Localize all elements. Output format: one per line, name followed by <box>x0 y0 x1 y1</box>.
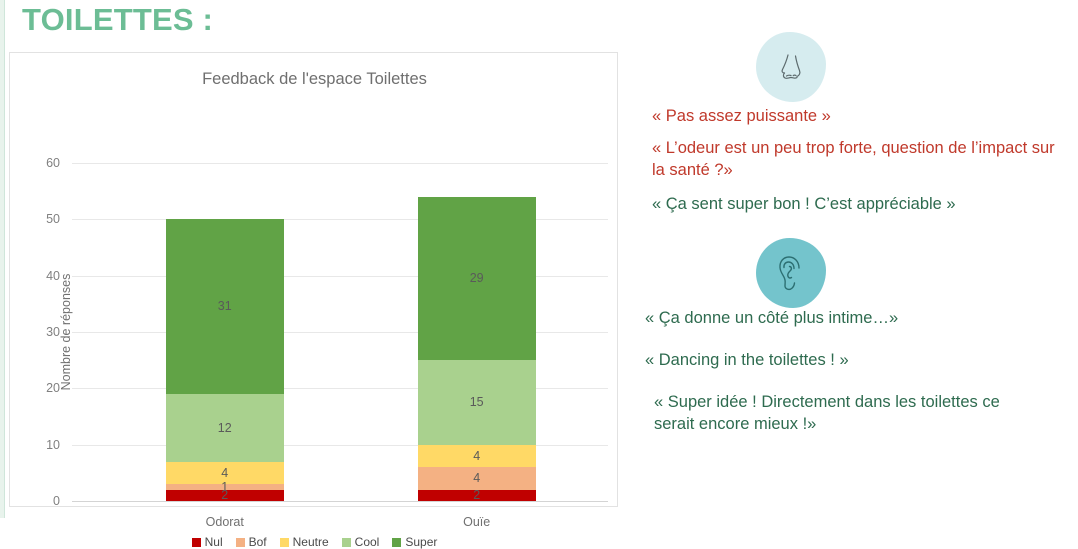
quote-1: « Pas assez puissante » <box>652 106 1072 128</box>
y-axis-tick-label: 50 <box>46 212 60 226</box>
y-axis-tick-label: 60 <box>46 156 60 170</box>
legend-swatch <box>392 538 401 547</box>
bar-segment-super[interactable]: 29 <box>418 197 536 360</box>
quote-panel: « Pas assez puissante »« L’odeur est un … <box>632 0 1078 518</box>
legend-item-cool[interactable]: Cool <box>342 535 380 549</box>
bar-segment-nul[interactable]: 2 <box>166 490 284 501</box>
ear-icon <box>756 238 826 308</box>
y-axis-tick-label: 30 <box>46 325 60 339</box>
chart-panel: Feedback de l'espace Toilettes Nombre de… <box>9 52 618 507</box>
y-axis-ticks: 0102030405060 <box>10 163 68 501</box>
x-axis-tick-label: Odorat <box>155 515 295 529</box>
bar-segment-neutre[interactable]: 4 <box>418 445 536 468</box>
quote-4: « Ça donne un côté plus intime…» <box>645 308 1065 330</box>
chart-title: Feedback de l'espace Toilettes <box>10 70 619 89</box>
legend-label: Neutre <box>293 535 329 549</box>
legend-label: Bof <box>249 535 267 549</box>
legend-item-nul[interactable]: Nul <box>192 535 223 549</box>
plot-area: 3112412Odorat2915442Ouïe <box>72 163 608 501</box>
axis-baseline <box>72 501 608 502</box>
y-axis-tick-label: 20 <box>46 381 60 395</box>
bar-value-label: 4 <box>221 467 228 480</box>
legend-label: Super <box>405 535 437 549</box>
y-axis-tick-label: 0 <box>53 494 60 508</box>
legend-item-bof[interactable]: Bof <box>236 535 267 549</box>
legend-swatch <box>280 538 289 547</box>
quote-5: « Dancing in the toilettes ! » <box>645 350 1065 372</box>
bar-segment-cool[interactable]: 15 <box>418 360 536 445</box>
legend-swatch <box>342 538 351 547</box>
gridline <box>72 163 608 164</box>
bar-value-label: 4 <box>473 450 480 463</box>
legend-item-super[interactable]: Super <box>392 535 437 549</box>
legend-label: Cool <box>355 535 380 549</box>
legend-swatch <box>236 538 245 547</box>
quote-2: « L’odeur est un peu trop forte, questio… <box>652 138 1067 182</box>
bar-value-label: 31 <box>218 300 232 313</box>
nose-icon <box>756 32 826 102</box>
legend-label: Nul <box>205 535 223 549</box>
bar-segment-nul[interactable]: 2 <box>418 490 536 501</box>
bar-value-label: 29 <box>470 272 484 285</box>
y-axis-tick-label: 40 <box>46 269 60 283</box>
legend-swatch <box>192 538 201 547</box>
legend-item-neutre[interactable]: Neutre <box>280 535 329 549</box>
bar-value-label: 2 <box>221 489 228 502</box>
x-axis-tick-label: Ouïe <box>407 515 547 529</box>
left-accent-strip <box>0 0 5 518</box>
bar-value-label: 2 <box>473 489 480 502</box>
bar-ouïe[interactable]: 2915442 <box>418 197 536 501</box>
bar-value-label: 4 <box>473 472 480 485</box>
quote-6: « Super idée ! Directement dans les toil… <box>654 392 1014 436</box>
bar-segment-super[interactable]: 31 <box>166 219 284 394</box>
bar-odorat[interactable]: 3112412 <box>166 219 284 501</box>
y-axis-tick-label: 10 <box>46 438 60 452</box>
bar-segment-cool[interactable]: 12 <box>166 394 284 462</box>
bar-value-label: 12 <box>218 422 232 435</box>
page-title: TOILETTES : <box>22 2 213 38</box>
chart-legend: NulBofNeutreCoolSuper <box>10 535 619 549</box>
bar-value-label: 15 <box>470 396 484 409</box>
bar-segment-bof[interactable]: 4 <box>418 467 536 490</box>
quote-3: « Ça sent super bon ! C’est appréciable … <box>652 194 1072 216</box>
